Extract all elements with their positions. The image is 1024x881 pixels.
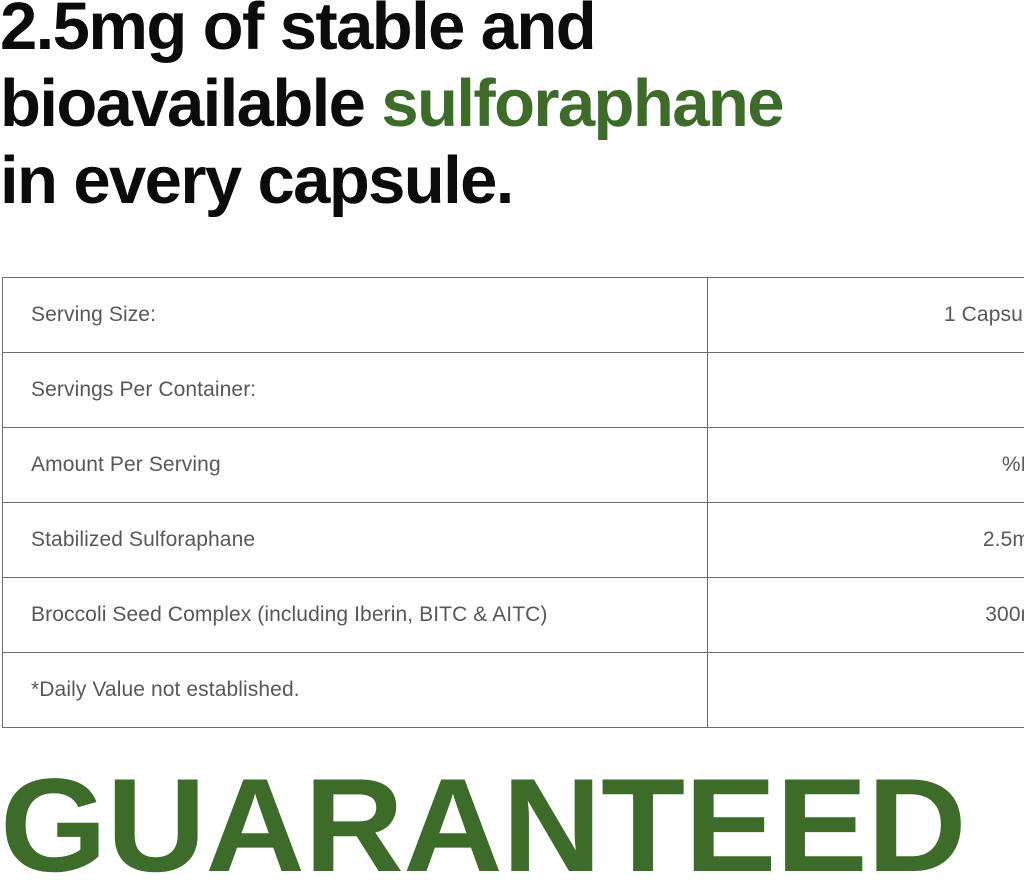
row-value [708,653,1024,728]
headline-line-1: 2.5mg of stable and [0,0,1024,65]
headline-line-2: bioavailable sulforaphane [0,65,1024,142]
row-label: Stabilized Sulforaphane [3,503,708,578]
headline-accent-word: sulforaphane [381,66,782,141]
supplement-facts-page: 2.5mg of stable and bioavailable sulfora… [0,0,1024,881]
row-value: 300mg [708,578,1024,653]
supplement-facts-table: Serving Size: 1 Capsules Servings Per Co… [2,277,1024,728]
row-label: Broccoli Seed Complex (including Iberin,… [3,578,708,653]
table-row: Servings Per Container: 30 [3,353,1024,428]
facts-table-body: Serving Size: 1 Capsules Servings Per Co… [3,278,1024,728]
row-value: %DV [708,428,1024,503]
row-value: 30 [708,353,1024,428]
row-value: 1 Capsules [708,278,1024,353]
row-label: Serving Size: [3,278,708,353]
table-row: *Daily Value not established. [3,653,1024,728]
row-footnote: *Daily Value not established. [3,653,708,728]
guaranteed-banner: GUARANTEED [0,760,1024,881]
row-label: Amount Per Serving [3,428,708,503]
headline-line-3: in every capsule. [0,142,1024,219]
table-row: Serving Size: 1 Capsules [3,278,1024,353]
table-row: Broccoli Seed Complex (including Iberin,… [3,578,1024,653]
headline-line-2-plain: bioavailable [0,66,381,141]
row-value: 2.5mg* [708,503,1024,578]
table-row: Amount Per Serving %DV [3,428,1024,503]
page-headline: 2.5mg of stable and bioavailable sulfora… [0,0,1024,219]
table-row: Stabilized Sulforaphane 2.5mg* [3,503,1024,578]
row-label: Servings Per Container: [3,353,708,428]
